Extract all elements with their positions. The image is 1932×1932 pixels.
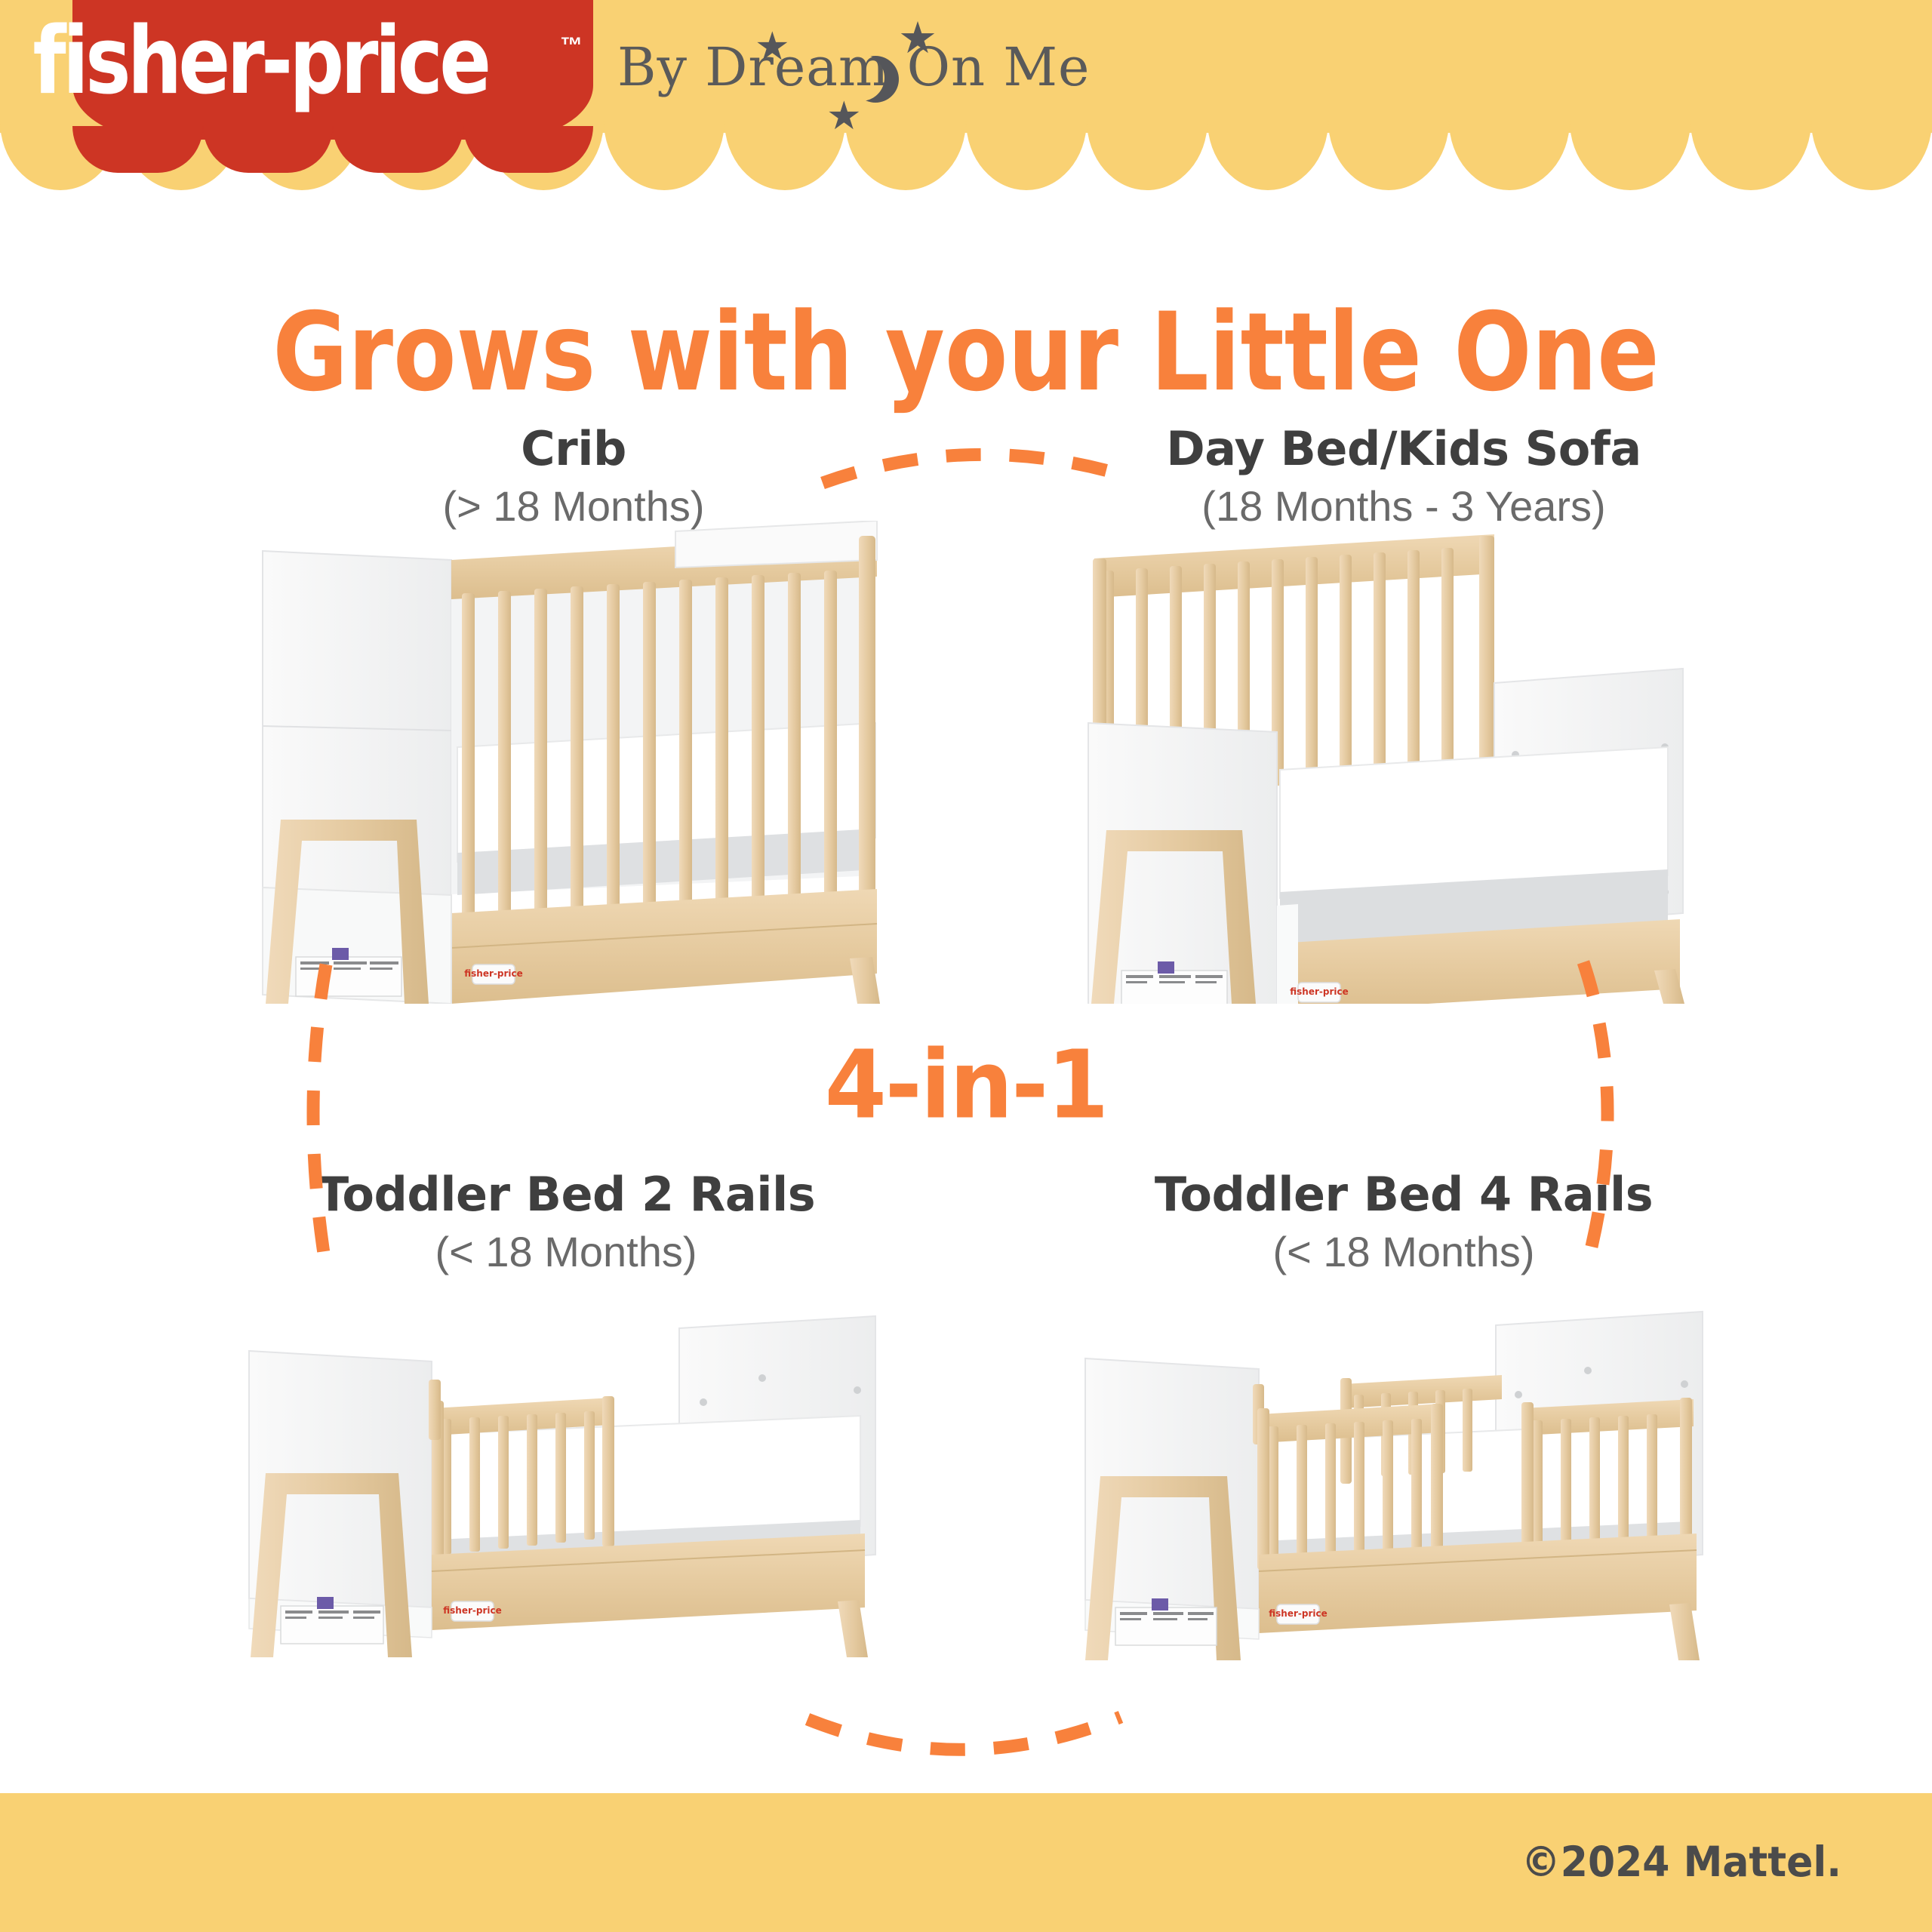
scallop	[333, 126, 463, 173]
scallop	[203, 126, 334, 173]
product-image-crib: fisher-price	[249, 521, 913, 1004]
four-in-one-badge: 4-in-1	[0, 1037, 1932, 1131]
product-subtitle: (< 18 Months)	[226, 1226, 906, 1277]
product-title: Toddler Bed 2 Rails	[226, 1168, 906, 1220]
product-card-crib[interactable]: Crib (> 18 Months)	[234, 423, 913, 532]
scallop	[1328, 121, 1449, 190]
star-icon: ★	[755, 27, 790, 66]
product-title: Toddler Bed 4 Rails	[1064, 1168, 1743, 1220]
product-image-day-bed: fisher-price	[1072, 521, 1751, 1004]
product-title: Day Bed/Kids Sofa	[1064, 423, 1743, 475]
product-title: Crib	[234, 423, 913, 475]
scallop	[1570, 121, 1690, 190]
scallop	[72, 126, 203, 173]
star-icon: ★	[826, 97, 862, 136]
page-title: Grows with your Little One	[48, 299, 1884, 407]
svg-text:fisher-price: fisher-price	[464, 968, 523, 979]
scallop	[1811, 121, 1932, 190]
scallop	[463, 126, 594, 173]
copyright-text: ©2024 Mattel.	[1521, 1838, 1841, 1887]
scallop	[1207, 121, 1328, 190]
logo-scallop-row	[72, 126, 593, 173]
scallop	[604, 121, 724, 190]
scallop	[966, 121, 1087, 190]
product-card-day-bed[interactable]: Day Bed/Kids Sofa (18 Months - 3 Years)	[1064, 423, 1743, 532]
product-image-toddler-2-rails: fisher-price	[234, 1306, 913, 1728]
svg-text:fisher-price: fisher-price	[443, 1605, 502, 1616]
scallop	[845, 121, 966, 190]
svg-text:fisher-price: fisher-price	[1290, 986, 1349, 997]
product-card-toddler-2-rails[interactable]: Toddler Bed 2 Rails (< 18 Months)	[226, 1168, 906, 1278]
scallop	[1087, 121, 1207, 190]
fisher-price-wordmark: fisher-price	[16, 15, 506, 108]
svg-text:fisher-price: fisher-price	[1269, 1608, 1327, 1619]
product-subtitle: (< 18 Months)	[1064, 1226, 1743, 1277]
crescent-moon-icon	[838, 54, 884, 101]
product-image-toddler-4-rails: fisher-price	[1072, 1306, 1751, 1728]
star-icon: ★	[898, 17, 937, 60]
scallop	[1449, 121, 1570, 190]
product-card-toddler-4-rails[interactable]: Toddler Bed 4 Rails (< 18 Months)	[1064, 1168, 1743, 1278]
trademark-symbol: ™	[560, 33, 583, 59]
scallop	[1690, 121, 1811, 190]
